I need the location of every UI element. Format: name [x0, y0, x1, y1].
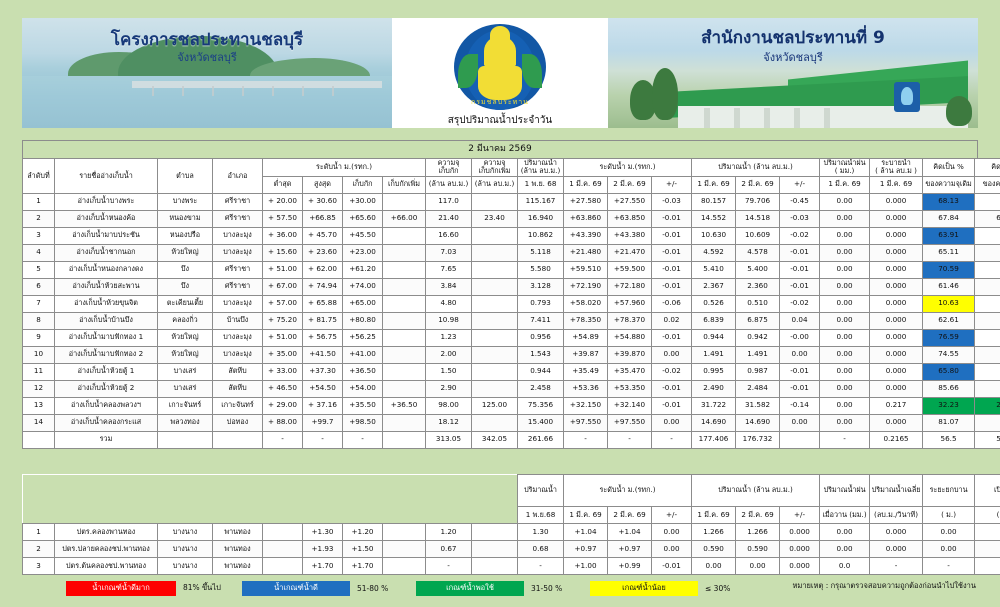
- volume-diff: 0.00: [780, 346, 820, 363]
- level-day1: +39.87: [564, 346, 608, 363]
- footer-note: หมายเหตุ : กรุณาตรวจสอบความถูกต้องก่อนนำ…: [792, 580, 976, 592]
- volume-day1: 5.410: [692, 261, 736, 278]
- th-level-d2: 2 มี.ค. 69: [608, 176, 652, 193]
- gate-gate-head: 0.00: [923, 524, 975, 541]
- reservoir-table: ลำดับที่ รายชื่ออ่างเก็บน้ำ ตำบล อำเภอ ร…: [22, 158, 1000, 449]
- gate-th-open-sub: ( ชม.): [975, 507, 1000, 524]
- level-day1: +97.550: [564, 414, 608, 431]
- volume-day2: 5.400: [736, 261, 780, 278]
- capacity: 3.84: [426, 278, 472, 295]
- gate-capacity-extra: [472, 541, 518, 558]
- banner-right-title: สำนักงานชลประทานที่ 9: [608, 24, 978, 51]
- gate-row[interactable]: 1ปตร.คลองพานทองบางนางพานทอง+1.30+1.201.2…: [23, 524, 1000, 541]
- percent-new-capacity: [975, 414, 1000, 431]
- rainfall: 0.00: [820, 261, 870, 278]
- summary-capacity: 313.05: [426, 431, 472, 448]
- tambon-value: บางพระ: [158, 193, 213, 210]
- gate-header-filler: [23, 475, 518, 491]
- row-index: 1: [23, 193, 55, 210]
- drainage: 0.000: [870, 210, 923, 227]
- reservoir-name: อ่างเก็บน้ำคลองพลวงฯ: [55, 397, 158, 414]
- capacity: 18.12: [426, 414, 472, 431]
- drainage: 0.000: [870, 193, 923, 210]
- summary-level-diff: -: [652, 431, 692, 448]
- gate-row[interactable]: 3ปตร.ต้นคลองชป.พานทองบางนางพานทอง+1.70+1…: [23, 558, 1000, 575]
- legend-range: 31-50 %: [524, 584, 590, 593]
- tambon-value: บางเสร่: [158, 380, 213, 397]
- reservoir-name: อ่างเก็บน้ำมาบประชัน: [55, 227, 158, 244]
- gate-open-hours: 0: [975, 524, 1000, 541]
- table-row[interactable]: 4อ่างเก็บน้ำชากนอกห้วยใหญ่บางละมุง+ 15.6…: [23, 244, 1000, 261]
- percent-new-capacity: [975, 261, 1000, 278]
- reservoir-name: อ่างเก็บน้ำห้วยสะพาน: [55, 278, 158, 295]
- volume-day1: 0.944: [692, 329, 736, 346]
- level-day1: +63.860: [564, 210, 608, 227]
- volume-day2: 4.578: [736, 244, 780, 261]
- level-diff: -0.01: [652, 227, 692, 244]
- capacity-extra: [472, 363, 518, 380]
- level-lowest: + 67.00: [263, 278, 303, 295]
- volume-day2: 10.609: [736, 227, 780, 244]
- emblem-text: กรมชลประทาน: [454, 97, 546, 108]
- row-index: 7: [23, 295, 55, 312]
- level-lowest: + 46.50: [263, 380, 303, 397]
- rainfall: 0.00: [820, 329, 870, 346]
- th-cap-extra-unit: (ล้าน ลบ.ม.): [472, 176, 518, 193]
- gate-capacity-extra: [472, 524, 518, 541]
- capacity: 10.98: [426, 312, 472, 329]
- summary-blank: [158, 431, 213, 448]
- table-row[interactable]: 8อ่างเก็บน้ำบ้านบึงคลองกิ่วบ้านบึง+ 75.2…: [23, 312, 1000, 329]
- summary-store: -: [343, 431, 383, 448]
- reservoir-name: อ่างเก็บน้ำบางพระ: [55, 193, 158, 210]
- level-lowest: + 33.00: [263, 363, 303, 380]
- capacity: 1.50: [426, 363, 472, 380]
- rainfall: 0.00: [820, 295, 870, 312]
- percent-new-capacity: [975, 227, 1000, 244]
- table-row[interactable]: 1อ่างเก็บน้ำบางพระบางพระศรีราชา+ 20.00+ …: [23, 193, 1000, 210]
- volume-day1: 14.690: [692, 414, 736, 431]
- level-store: +45.50: [343, 227, 383, 244]
- drainage: 0.000: [870, 329, 923, 346]
- level-day2: +39.870: [608, 346, 652, 363]
- th-capacity-l1: ความจุ เก็บกัก: [438, 159, 460, 176]
- th-volume-group: ปริมาณน้ำ (ล้าน ลบ.ม.): [692, 159, 820, 177]
- th-vol0-date: 1 พ.ย. 68: [518, 176, 564, 193]
- percent-old-capacity: 63.91: [923, 227, 975, 244]
- percent-old-capacity: 32.23: [923, 397, 975, 414]
- pier-post: [302, 86, 304, 96]
- level-store-extra: [383, 312, 426, 329]
- table-row[interactable]: 11อ่างเก็บน้ำห้วยตู้ 1บางเสร่สัตหีบ+ 33.…: [23, 363, 1000, 380]
- table-row[interactable]: 6อ่างเก็บน้ำห้วยสะพานบึงศรีราชา+ 67.00+ …: [23, 278, 1000, 295]
- tambon-value: คลองกิ่ว: [158, 312, 213, 329]
- gate-avg-flow: 0.000: [870, 524, 923, 541]
- summary-row: รวม---313.05342.05261.66---177.406176.73…: [23, 431, 1000, 448]
- rainfall: 0.00: [820, 380, 870, 397]
- gate-th-avg-sub: (ลบ.ม./วินาที): [870, 507, 923, 524]
- rainfall: 0.00: [820, 278, 870, 295]
- percent-new-capacity: [975, 380, 1000, 397]
- drainage: 0.000: [870, 380, 923, 397]
- summary-volume-diff: [780, 431, 820, 448]
- volume-day1: 14.552: [692, 210, 736, 227]
- gate-level-day1: +1.00: [564, 558, 608, 575]
- percent-old-capacity: 67.84: [923, 210, 975, 227]
- gate-index: 1: [23, 524, 55, 541]
- capacity: 21.40: [426, 210, 472, 227]
- table-row[interactable]: 12อ่างเก็บน้ำห้วยตู้ 2บางเสร่สัตหีบ+ 46.…: [23, 380, 1000, 397]
- gate-avg-flow: -: [870, 558, 923, 575]
- gate-th-vol-group: ปริมาณน้ำ (ล้าน ลบ.ม.): [692, 475, 820, 507]
- tambon-value: เกาะจันทร์: [158, 397, 213, 414]
- reservoir-name: อ่างเก็บน้ำมาบฟักทอง 1: [55, 329, 158, 346]
- table-row[interactable]: 7อ่างเก็บน้ำห้วยขุนจิตตะเคียนเตี้ยบางละม…: [23, 295, 1000, 312]
- pier-post: [182, 86, 184, 96]
- capacity: 7.03: [426, 244, 472, 261]
- th-drain-l1: ระบายน้ำ ( ล้าน ลบ.ม ): [875, 159, 917, 176]
- volume-diff: -0.02: [780, 227, 820, 244]
- volume-diff: -0.00: [780, 329, 820, 346]
- building-sign: [894, 82, 920, 112]
- level-highest: + 30.60: [303, 193, 343, 210]
- legend-swatch: น้ำเกณฑ์น้ำดี: [242, 581, 350, 596]
- percent-new-capacity: [975, 363, 1000, 380]
- amphoe-value: ศรีราชา: [213, 261, 263, 278]
- gate-amphoe: พานทอง: [213, 558, 263, 575]
- table-row[interactable]: 3อ่างเก็บน้ำมาบประชันหนองปรือบางละมุง+ 3…: [23, 227, 1000, 244]
- gate-store: +1.70: [343, 558, 383, 575]
- reservoir-name: อ่างเก็บน้ำห้วยขุนจิต: [55, 295, 158, 312]
- th-vol-d1: 1 มี.ค. 69: [692, 176, 736, 193]
- volume-day1: 4.592: [692, 244, 736, 261]
- percent-old-capacity: 70.59: [923, 261, 975, 278]
- capacity-extra: 23.40: [472, 210, 518, 227]
- gate-th-vol-d2: 2 มี.ค. 69: [736, 507, 780, 524]
- level-lowest: + 57.50: [263, 210, 303, 227]
- volume-initial: 5.580: [518, 261, 564, 278]
- level-diff: -0.01: [652, 261, 692, 278]
- table-head: ลำดับที่ รายชื่ออ่างเก็บน้ำ ตำบล อำเภอ ร…: [23, 159, 1000, 194]
- volume-initial: 0.793: [518, 295, 564, 312]
- tree-decoration: [652, 68, 678, 120]
- level-diff: -0.01: [652, 244, 692, 261]
- volume-initial: 3.128: [518, 278, 564, 295]
- level-lowest: + 51.00: [263, 261, 303, 278]
- gate-highest: +1.93: [303, 541, 343, 558]
- level-store-extra: [383, 278, 426, 295]
- volume-initial: 2.458: [518, 380, 564, 397]
- row-index: 6: [23, 278, 55, 295]
- drainage: 0.000: [870, 295, 923, 312]
- gate-volume-day1: 1.266: [692, 524, 736, 541]
- capacity-extra: [472, 312, 518, 329]
- summary-percent-new: 51.67: [975, 431, 1000, 448]
- drainage: 0.000: [870, 363, 923, 380]
- capacity: 16.60: [426, 227, 472, 244]
- table-row[interactable]: 14อ่างเก็บน้ำคลองกระแสพลวงทองบ่อทอง+ 88.…: [23, 414, 1000, 431]
- row-index: 4: [23, 244, 55, 261]
- gate-name: ปตร.ต้นคลองชป.พานทอง: [55, 558, 158, 575]
- volume-diff: 0.04: [780, 312, 820, 329]
- pier-post: [212, 86, 214, 96]
- percent-new-capacity: 25.27: [975, 397, 1000, 414]
- table-row[interactable]: 13อ่างเก็บน้ำคลองพลวงฯเกาะจันทร์เกาะจันท…: [23, 397, 1000, 414]
- amphoe-value: บางละมุง: [213, 346, 263, 363]
- gate-header-row-1: ปริมาณน้ำ ระดับน้ำ ม.(รทก.) ปริมาณน้ำ (ล…: [23, 475, 1000, 491]
- level-highest: +99.7: [303, 414, 343, 431]
- building-body: [678, 106, 968, 128]
- summary-lowest: -: [263, 431, 303, 448]
- table-row[interactable]: 9อ่างเก็บน้ำมาบฟักทอง 1ห้วยใหญ่บางละมุง+…: [23, 329, 1000, 346]
- level-lowest: + 15.60: [263, 244, 303, 261]
- report-date: 2 มีนาคม 2569: [22, 140, 978, 158]
- summary-volume-initial: 261.66: [518, 431, 564, 448]
- tambon-value: บึง: [158, 261, 213, 278]
- level-highest: + 37.16: [303, 397, 343, 414]
- level-day2: +32.140: [608, 397, 652, 414]
- gate-th-head-sub: ( ม.): [923, 507, 975, 524]
- gate-th-rain: ปริมาณน้ำฝน: [820, 475, 870, 507]
- gate-capacity: 1.20: [426, 524, 472, 541]
- row-index: 10: [23, 346, 55, 363]
- volume-day2: 14.690: [736, 414, 780, 431]
- volume-day2: 2.360: [736, 278, 780, 295]
- gate-level-day1: +1.04: [564, 524, 608, 541]
- capacity-extra: [472, 193, 518, 210]
- gate-level-diff: 0.00: [652, 524, 692, 541]
- gate-th-lvl-diff: +/-: [652, 507, 692, 524]
- gate-lowest: [263, 558, 303, 575]
- level-day1: +78.350: [564, 312, 608, 329]
- volume-day1: 1.491: [692, 346, 736, 363]
- level-store-extra: [383, 261, 426, 278]
- gate-th-vol-d1: 1 มี.ค. 69: [692, 507, 736, 524]
- capacity: 98.00: [426, 397, 472, 414]
- level-store: +80.80: [343, 312, 383, 329]
- table-row[interactable]: 2อ่างเก็บน้ำหนองค้อหนองขามศรีราชา+ 57.50…: [23, 210, 1000, 227]
- level-highest: +41.50: [303, 346, 343, 363]
- level-diff: 0.02: [652, 312, 692, 329]
- level-store: +56.25: [343, 329, 383, 346]
- level-highest: +37.30: [303, 363, 343, 380]
- level-store-extra: [383, 414, 426, 431]
- th-rain-l1: ปริมาณน้ำฝน ( มม.): [824, 159, 866, 176]
- volume-diff: -0.45: [780, 193, 820, 210]
- capacity: 7.65: [426, 261, 472, 278]
- volume-diff: -0.01: [780, 380, 820, 397]
- gate-name: ปตร.คลองพานทอง: [55, 524, 158, 541]
- tambon-value: พลวงทอง: [158, 414, 213, 431]
- volume-initial: 0.956: [518, 329, 564, 346]
- row-index: 12: [23, 380, 55, 397]
- gate-table: ปริมาณน้ำ ระดับน้ำ ม.(รทก.) ปริมาณน้ำ (ล…: [22, 474, 1000, 575]
- volume-day2: 1.491: [736, 346, 780, 363]
- percent-old-capacity: 10.63: [923, 295, 975, 312]
- reservoir-name: อ่างเก็บน้ำบ้านบึง: [55, 312, 158, 329]
- level-highest: + 81.75: [303, 312, 343, 329]
- gate-header-row-3: 1 พ.ย.68 1 มี.ค. 69 2 มี.ค. 69 +/- 1 มี.…: [23, 507, 1000, 524]
- level-store: +98.50: [343, 414, 383, 431]
- level-highest: + 65.88: [303, 295, 343, 312]
- legend-range: 51-80 %: [350, 584, 416, 593]
- table-row[interactable]: 10อ่างเก็บน้ำมาบฟักทอง 2ห้วยใหญ่บางละมุง…: [23, 346, 1000, 363]
- th-drain-date: 1 มี.ค. 69: [870, 176, 923, 193]
- tambon-value: บึง: [158, 278, 213, 295]
- gate-volume-day2: 1.266: [736, 524, 780, 541]
- rainfall: 0.00: [820, 397, 870, 414]
- th-level-d1: 1 มี.ค. 69: [564, 176, 608, 193]
- percent-old-capacity: 81.07: [923, 414, 975, 431]
- amphoe-value: สัตหีบ: [213, 363, 263, 380]
- level-lowest: + 20.00: [263, 193, 303, 210]
- amphoe-value: บ้านบึง: [213, 312, 263, 329]
- gate-open-hours: 0: [975, 541, 1000, 558]
- volume-day1: 0.995: [692, 363, 736, 380]
- gate-capacity-extra: [472, 558, 518, 575]
- level-day1: +59.510: [564, 261, 608, 278]
- emblem-base: [478, 66, 522, 100]
- amphoe-value: บางละมุง: [213, 295, 263, 312]
- level-highest: + 45.70: [303, 227, 343, 244]
- row-index: 13: [23, 397, 55, 414]
- summary-blank: [23, 431, 55, 448]
- gate-store-extra: [383, 541, 426, 558]
- pier-post: [242, 86, 244, 96]
- amphoe-value: บ่อทอง: [213, 414, 263, 431]
- gate-header-filler-3: [23, 507, 518, 524]
- report-page: โครงการชลประทานชลบุรี จังหวัดชลบุรี กรมช…: [0, 0, 1000, 607]
- gate-th-vol0: ปริมาณน้ำ: [518, 475, 564, 507]
- th-store-extra: เก็บกักเพิ่ม: [383, 176, 426, 193]
- level-lowest: + 88.00: [263, 414, 303, 431]
- level-highest: + 23.60: [303, 244, 343, 261]
- volume-day2: 31.582: [736, 397, 780, 414]
- legend-range: ≤ 30%: [698, 584, 764, 593]
- level-highest: + 56.75: [303, 329, 343, 346]
- amphoe-value: สัตหีบ: [213, 380, 263, 397]
- th-capacity: ความจุ เก็บกัก: [426, 159, 472, 177]
- th-cap-unit: (ล้าน ลบ.ม.): [426, 176, 472, 193]
- gate-volume-day1: 0.00: [692, 558, 736, 575]
- gate-gate-head: -: [923, 558, 975, 575]
- gate-th-vol-diff: +/-: [780, 507, 820, 524]
- level-diff: -0.01: [652, 380, 692, 397]
- th-pct-new: คิดเป็น %: [975, 159, 1000, 177]
- row-index: 9: [23, 329, 55, 346]
- level-store-extra: +66.00: [383, 210, 426, 227]
- capacity-extra: [472, 295, 518, 312]
- gate-th-vol0-date: 1 พ.ย.68: [518, 507, 564, 524]
- gate-store: +1.20: [343, 524, 383, 541]
- drainage: 0.000: [870, 414, 923, 431]
- building-column: [824, 108, 830, 128]
- level-day1: +35.49: [564, 363, 608, 380]
- capacity: 1.23: [426, 329, 472, 346]
- capacity-extra: [472, 278, 518, 295]
- gate-rainfall: 0.00: [820, 541, 870, 558]
- th-level-group: ระดับน้ำ ม.(รทก.): [263, 159, 426, 177]
- building-column: [734, 108, 740, 128]
- volume-initial: 15.400: [518, 414, 564, 431]
- th-pct-old: คิดเป็น %: [923, 159, 975, 177]
- banner-left-photo: โครงการชลประทานชลบุรี จังหวัดชลบุรี: [22, 18, 392, 128]
- level-diff: 0.00: [652, 346, 692, 363]
- level-store: +74.00: [343, 278, 383, 295]
- gate-rainfall: 0.0: [820, 558, 870, 575]
- level-store-extra: [383, 329, 426, 346]
- level-day2: +78.370: [608, 312, 652, 329]
- gate-th-level-group: ระดับน้ำ ม.(รทก.): [564, 475, 692, 507]
- level-day2: +35.470: [608, 363, 652, 380]
- level-highest: + 62.00: [303, 261, 343, 278]
- gate-gate-head: 0.00: [923, 541, 975, 558]
- percent-old-capacity: 65.80: [923, 363, 975, 380]
- volume-initial: 5.118: [518, 244, 564, 261]
- level-day1: +32.150: [564, 397, 608, 414]
- gate-row[interactable]: 2ปตร.ปลายคลองชป.พานทองบางนางพานทอง+1.93+…: [23, 541, 1000, 558]
- table-row[interactable]: 5อ่างเก็บน้ำหนองกลางดงบึงศรีราชา+ 51.00+…: [23, 261, 1000, 278]
- summary-percent-old: 56.5: [923, 431, 975, 448]
- level-store: +65.00: [343, 295, 383, 312]
- tambon-value: หนองปรือ: [158, 227, 213, 244]
- percent-new-capacity: 62.04: [975, 210, 1000, 227]
- legend-swatch: น้ำเกณฑ์น้ำดีมาก: [66, 581, 176, 596]
- rainfall: 0.00: [820, 414, 870, 431]
- reservoir-name: อ่างเก็บน้ำหนองค้อ: [55, 210, 158, 227]
- building-column: [764, 108, 770, 128]
- legend-range: 81% ขึ้นไป: [176, 582, 242, 594]
- gate-index: 3: [23, 558, 55, 575]
- th-lowest: ต่ำสุด: [263, 176, 303, 193]
- reservoir-name: อ่างเก็บน้ำห้วยตู้ 1: [55, 363, 158, 380]
- gate-header-filler-2: [23, 491, 518, 507]
- level-lowest: + 57.00: [263, 295, 303, 312]
- drainage: 0.000: [870, 244, 923, 261]
- building-column: [794, 108, 800, 128]
- volume-day1: 2.367: [692, 278, 736, 295]
- gate-index: 2: [23, 541, 55, 558]
- gate-name: ปตร.ปลายคลองชป.พานทอง: [55, 541, 158, 558]
- volume-diff: -0.01: [780, 244, 820, 261]
- capacity-extra: [472, 380, 518, 397]
- gate-volume-diff: 0.000: [780, 524, 820, 541]
- volume-day2: 2.484: [736, 380, 780, 397]
- capacity-extra: 125.00: [472, 397, 518, 414]
- level-day1: +58.020: [564, 295, 608, 312]
- reservoir-name: อ่างเก็บน้ำคลองกระแส: [55, 414, 158, 431]
- volume-day1: 2.490: [692, 380, 736, 397]
- gate-level-diff: -0.01: [652, 558, 692, 575]
- summary-rainfall: -: [820, 431, 870, 448]
- volume-day2: 0.987: [736, 363, 780, 380]
- percent-new-capacity: [975, 278, 1000, 295]
- gate-table-wrapper: ปริมาณน้ำ ระดับน้ำ ม.(รทก.) ปริมาณน้ำ (ล…: [22, 474, 978, 575]
- capacity: 117.0: [426, 193, 472, 210]
- gate-th-avg: ปริมาณน้ำเฉลี่ย: [870, 475, 923, 507]
- percent-new-capacity: [975, 329, 1000, 346]
- gate-volume-diff: 0.000: [780, 558, 820, 575]
- level-store: +36.50: [343, 363, 383, 380]
- banner-right-subtitle: จังหวัดชลบุรี: [608, 48, 978, 66]
- level-store: +61.20: [343, 261, 383, 278]
- th-capacity-extra: ความจุ เก็บกักเพิ่ม: [472, 159, 518, 177]
- gate-capacity: -: [426, 558, 472, 575]
- amphoe-value: บางละมุง: [213, 227, 263, 244]
- drainage: 0.217: [870, 397, 923, 414]
- tambon-value: ตะเคียนเตี้ย: [158, 295, 213, 312]
- gate-volume-initial: 1.30: [518, 524, 564, 541]
